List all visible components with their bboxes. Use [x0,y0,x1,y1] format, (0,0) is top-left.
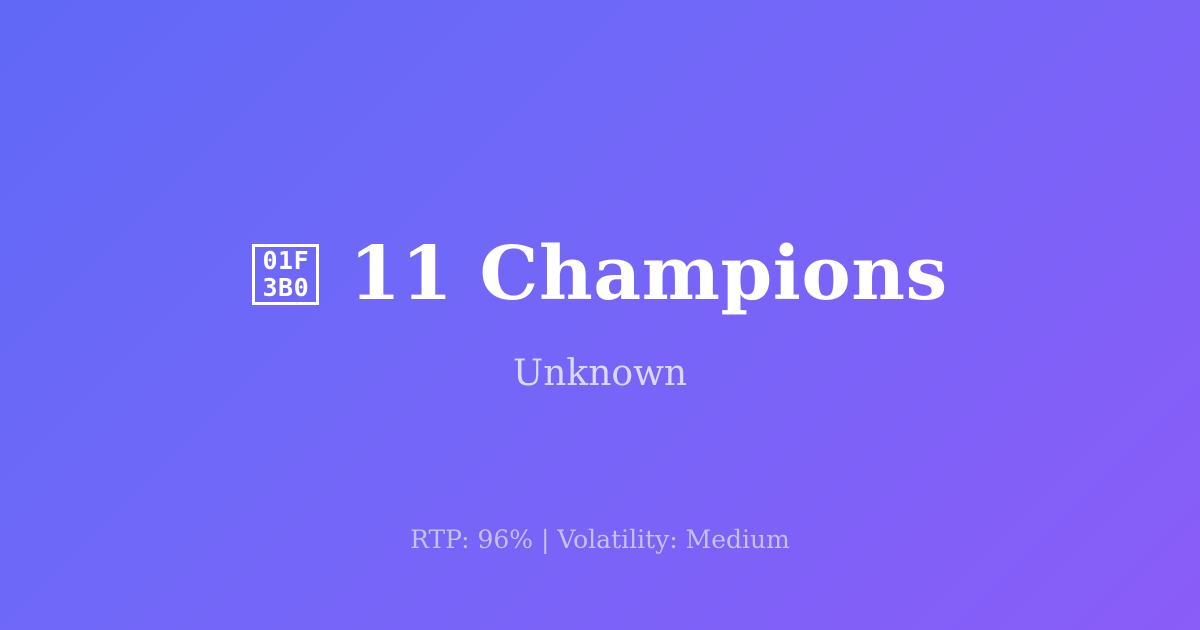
codepoint-line-1: 01F [262,247,309,274]
codepoint-line-2: 3B0 [262,274,309,301]
slot-machine-icon: 01F 3B0 [252,244,319,305]
game-info-card: 01F 3B0 11 Champions Unknown RTP: 96% | … [0,0,1200,630]
card-subtitle: Unknown [513,352,687,396]
page-title: 11 Champions [349,232,947,316]
game-meta-line: RTP: 96% | Volatility: Medium [0,524,1200,556]
title-row: 01F 3B0 11 Champions [252,232,947,316]
card-hero: 01F 3B0 11 Champions Unknown [0,232,1200,396]
